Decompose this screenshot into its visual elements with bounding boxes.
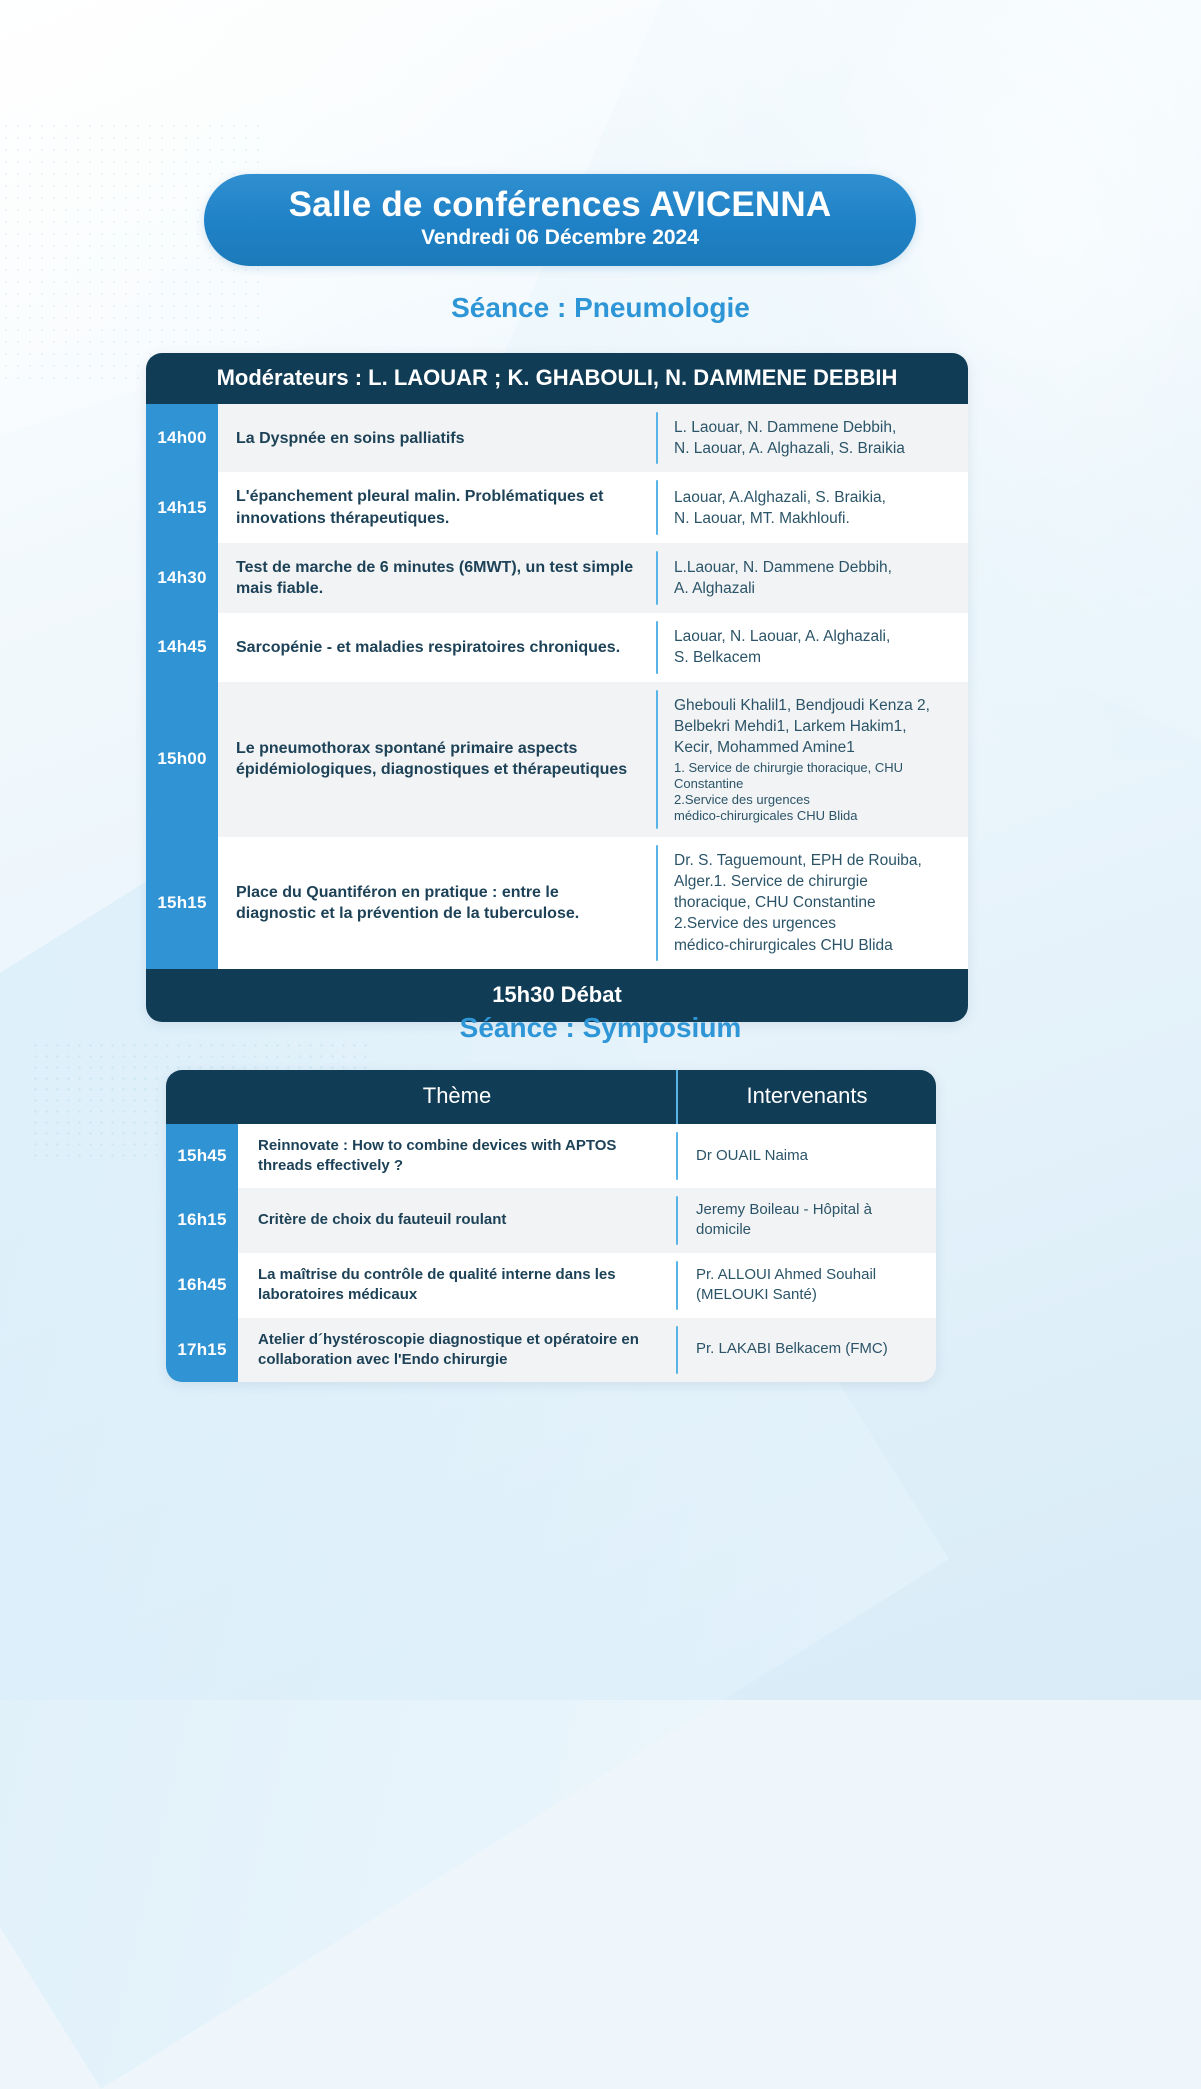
section-title-symposium: Séance : Symposium bbox=[0, 1012, 1201, 1044]
speaker-line: Kecir, Mohammed Amine1 bbox=[674, 737, 956, 758]
row-time: 15h00 bbox=[146, 682, 218, 838]
speaker-line: Pr. ALLOUI Ahmed Souhail bbox=[696, 1265, 924, 1285]
hero-date: Vendredi 06 Décembre 2024 bbox=[421, 226, 699, 250]
row-speakers: Dr. S. Taguemount, EPH de Rouiba,Alger.1… bbox=[658, 837, 968, 968]
row-time: 14h15 bbox=[146, 472, 218, 543]
row-theme: Place du Quantiféron en pratique : entre… bbox=[218, 837, 656, 968]
speaker-line: A. Alghazali bbox=[674, 578, 956, 599]
row-speakers: Laouar, A.Alghazali, S. Braikia,N. Laoua… bbox=[658, 472, 968, 543]
speaker-line: Laouar, N. Laouar, A. Alghazali, bbox=[674, 626, 956, 647]
speaker-line: Laouar, A.Alghazali, S. Braikia, bbox=[674, 487, 956, 508]
speaker-line: thoracique, CHU Constantine bbox=[674, 892, 956, 913]
speaker-line: Dr. S. Taguemount, EPH de Rouiba, bbox=[674, 850, 956, 871]
row-speakers: L.Laouar, N. Dammene Debbih,A. Alghazali bbox=[658, 543, 968, 614]
speaker-line: Alger.1. Service de chirurgie bbox=[674, 871, 956, 892]
row-time: 17h15 bbox=[166, 1318, 238, 1382]
speaker-line: L. Laouar, N. Dammene Debbih, bbox=[674, 417, 956, 438]
conference-program-page: Salle de conférences AVICENNA Vendredi 0… bbox=[0, 0, 1201, 1700]
table-row: 17h15Atelier d´hystéroscopie diagnostiqu… bbox=[166, 1318, 936, 1382]
row-time: 14h45 bbox=[146, 613, 218, 681]
row-theme: Critère de choix du fauteuil roulant bbox=[238, 1188, 676, 1253]
column-header-speakers: Intervenants bbox=[678, 1070, 936, 1124]
speaker-line: Pr. LAKABI Belkacem (FMC) bbox=[696, 1339, 924, 1359]
row-time: 14h00 bbox=[146, 404, 218, 472]
row-theme: L'épanchement pleural malin. Problématiq… bbox=[218, 472, 656, 543]
row-time: 15h45 bbox=[166, 1124, 238, 1188]
table-row: 15h45Reinnovate : How to combine devices… bbox=[166, 1124, 936, 1188]
symposium-table-header: Thème Intervenants bbox=[166, 1070, 936, 1124]
row-speakers: Laouar, N. Laouar, A. Alghazali,S. Belka… bbox=[658, 613, 968, 681]
column-header-theme: Thème bbox=[238, 1070, 676, 1124]
pneumology-schedule-card: Modérateurs : L. LAOUAR ; K. GHABOULI, N… bbox=[146, 353, 968, 1022]
row-time: 14h30 bbox=[146, 543, 218, 614]
row-theme: Reinnovate : How to combine devices with… bbox=[238, 1124, 676, 1188]
symposium-schedule-card: Thème Intervenants 15h45Reinnovate : How… bbox=[166, 1070, 936, 1382]
row-theme: Test de marche de 6 minutes (6MWT), un t… bbox=[218, 543, 656, 614]
table-row: 14h15L'épanchement pleural malin. Problé… bbox=[146, 472, 968, 543]
affiliation-line: 1. Service de chirurgie thoracique, CHU bbox=[674, 760, 956, 776]
affiliation-line: Constantine bbox=[674, 776, 956, 792]
row-time: 16h45 bbox=[166, 1253, 238, 1318]
speaker-line: S. Belkacem bbox=[674, 647, 956, 668]
row-speakers: Jeremy Boileau - Hôpital àdomicile bbox=[678, 1188, 936, 1253]
speaker-line: Dr OUAIL Naima bbox=[696, 1146, 924, 1166]
row-speakers: L. Laouar, N. Dammene Debbih,N. Laouar, … bbox=[658, 404, 968, 472]
row-speakers: Ghebouli Khalil1, Bendjoudi Kenza 2,Belb… bbox=[658, 682, 968, 838]
moderators-bar: Modérateurs : L. LAOUAR ; K. GHABOULI, N… bbox=[146, 353, 968, 404]
row-theme: La maîtrise du contrôle de qualité inter… bbox=[238, 1253, 676, 1318]
table-row: 14h45Sarcopénie - et maladies respiratoi… bbox=[146, 613, 968, 681]
speaker-line: domicile bbox=[696, 1220, 924, 1240]
pneumology-rows: 14h00La Dyspnée en soins palliatifsL. La… bbox=[146, 404, 968, 968]
affiliation-line: médico-chirurgicales CHU Blida bbox=[674, 808, 956, 824]
table-row: 15h15Place du Quantiféron en pratique : … bbox=[146, 837, 968, 968]
row-theme: La Dyspnée en soins palliatifs bbox=[218, 404, 656, 472]
header-time-spacer bbox=[166, 1070, 238, 1124]
speaker-line: (MELOUKI Santé) bbox=[696, 1285, 924, 1305]
table-row: 14h00La Dyspnée en soins palliatifsL. La… bbox=[146, 404, 968, 472]
row-speakers: Dr OUAIL Naima bbox=[678, 1124, 936, 1188]
speaker-line: Ghebouli Khalil1, Bendjoudi Kenza 2, bbox=[674, 695, 956, 716]
affiliation-line: 2.Service des urgences bbox=[674, 792, 956, 808]
speaker-line: Jeremy Boileau - Hôpital à bbox=[696, 1200, 924, 1220]
row-theme: Atelier d´hystéroscopie diagnostique et … bbox=[238, 1318, 676, 1382]
hero-title: Salle de conférences AVICENNA bbox=[289, 186, 832, 224]
row-speakers: Pr. ALLOUI Ahmed Souhail(MELOUKI Santé) bbox=[678, 1253, 936, 1318]
table-row: 14h30Test de marche de 6 minutes (6MWT),… bbox=[146, 543, 968, 614]
row-theme: Le pneumothorax spontané primaire aspect… bbox=[218, 682, 656, 838]
row-time: 16h15 bbox=[166, 1188, 238, 1253]
speaker-line: N. Laouar, MT. Makhloufi. bbox=[674, 508, 956, 529]
row-theme: Sarcopénie - et maladies respiratoires c… bbox=[218, 613, 656, 681]
table-row: 16h45La maîtrise du contrôle de qualité … bbox=[166, 1253, 936, 1318]
hero-banner: Salle de conférences AVICENNA Vendredi 0… bbox=[204, 174, 916, 266]
row-time: 15h15 bbox=[146, 837, 218, 968]
section-title-pneumology: Séance : Pneumologie bbox=[0, 292, 1201, 324]
table-row: 15h00Le pneumothorax spontané primaire a… bbox=[146, 682, 968, 838]
symposium-rows: 15h45Reinnovate : How to combine devices… bbox=[166, 1124, 936, 1382]
table-row: 16h15Critère de choix du fauteuil roulan… bbox=[166, 1188, 936, 1253]
speaker-line: médico-chirurgicales CHU Blida bbox=[674, 935, 956, 956]
speaker-line: Belbekri Mehdi1, Larkem Hakim1, bbox=[674, 716, 956, 737]
speaker-line: N. Laouar, A. Alghazali, S. Braikia bbox=[674, 438, 956, 459]
speaker-line: L.Laouar, N. Dammene Debbih, bbox=[674, 557, 956, 578]
row-speakers: Pr. LAKABI Belkacem (FMC) bbox=[678, 1318, 936, 1382]
speaker-line: 2.Service des urgences bbox=[674, 913, 956, 934]
